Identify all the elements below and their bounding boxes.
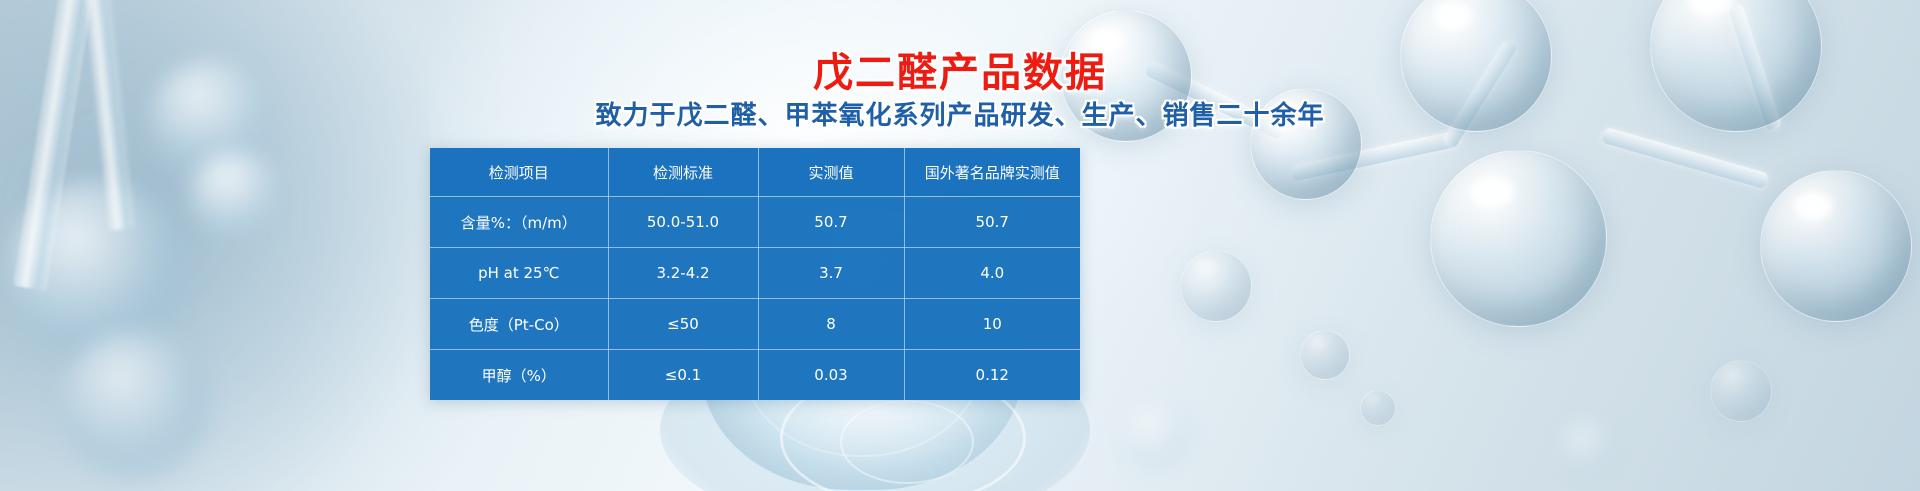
cell-foreign-value: 4.0	[904, 248, 1080, 299]
table-row: pH at 25℃ 3.2-4.2 3.7 4.0	[430, 248, 1080, 299]
table-body: 含量%：（m/m） 50.0-51.0 50.7 50.7 pH at 25℃ …	[430, 197, 1080, 401]
product-data-banner: 戊二醛产品数据 致力于戊二醛、甲苯氧化系列产品研发、生产、销售二十余年 检测项目…	[0, 0, 1920, 491]
cell-test-standard: 3.2-4.2	[608, 248, 758, 299]
cell-test-item: 含量%：（m/m）	[430, 197, 608, 248]
table-row: 色度（Pt-Co） ≤50 8 10	[430, 299, 1080, 350]
table-row: 含量%：（m/m） 50.0-51.0 50.7 50.7	[430, 197, 1080, 248]
banner-heading-block: 戊二醛产品数据 致力于戊二醛、甲苯氧化系列产品研发、生产、销售二十余年	[0, 0, 1920, 131]
molecule-bond	[1601, 127, 1769, 189]
molecule-atom	[1360, 390, 1396, 426]
cell-foreign-value: 0.12	[904, 350, 1080, 401]
bokeh-bubble	[190, 150, 280, 240]
table-header-row: 检测项目 检测标准 实测值 国外著名品牌实测值	[430, 148, 1080, 197]
product-data-table: 检测项目 检测标准 实测值 国外著名品牌实测值 含量%：（m/m） 50.0-5…	[430, 148, 1080, 400]
page-title: 戊二醛产品数据	[0, 0, 1920, 94]
cell-foreign-value: 10	[904, 299, 1080, 350]
cell-measured-value: 3.7	[758, 248, 904, 299]
bokeh-bubble	[1120, 400, 1190, 470]
table-head: 检测项目 检测标准 实测值 国外著名品牌实测值	[430, 148, 1080, 197]
page-subtitle: 致力于戊二醛、甲苯氧化系列产品研发、生产、销售二十余年	[0, 94, 1920, 131]
column-header-test-item: 检测项目	[430, 148, 608, 197]
molecule-atom	[1710, 360, 1772, 422]
cell-test-standard: ≤0.1	[608, 350, 758, 401]
cell-test-item: pH at 25℃	[430, 248, 608, 299]
column-header-test-standard: 检测标准	[608, 148, 758, 197]
cell-test-item: 色度（Pt-Co）	[430, 299, 608, 350]
molecule-atom	[1430, 150, 1607, 327]
molecule-atom	[1180, 250, 1252, 322]
cell-measured-value: 50.7	[758, 197, 904, 248]
cell-test-standard: 50.0-51.0	[608, 197, 758, 248]
cell-test-standard: ≤50	[608, 299, 758, 350]
molecule-atom	[1760, 170, 1912, 322]
bokeh-bubble	[60, 330, 210, 480]
cell-measured-value: 8	[758, 299, 904, 350]
bokeh-bubble	[1560, 420, 1616, 476]
cell-measured-value: 0.03	[758, 350, 904, 401]
cell-foreign-value: 50.7	[904, 197, 1080, 248]
table-row: 甲醇（%） ≤0.1 0.03 0.12	[430, 350, 1080, 401]
cell-test-item: 甲醇（%）	[430, 350, 608, 401]
product-data-table-wrap: 检测项目 检测标准 实测值 国外著名品牌实测值 含量%：（m/m） 50.0-5…	[430, 148, 1080, 400]
molecule-atom	[1300, 330, 1350, 380]
column-header-measured-value: 实测值	[758, 148, 904, 197]
column-header-foreign-brand: 国外著名品牌实测值	[904, 148, 1080, 197]
